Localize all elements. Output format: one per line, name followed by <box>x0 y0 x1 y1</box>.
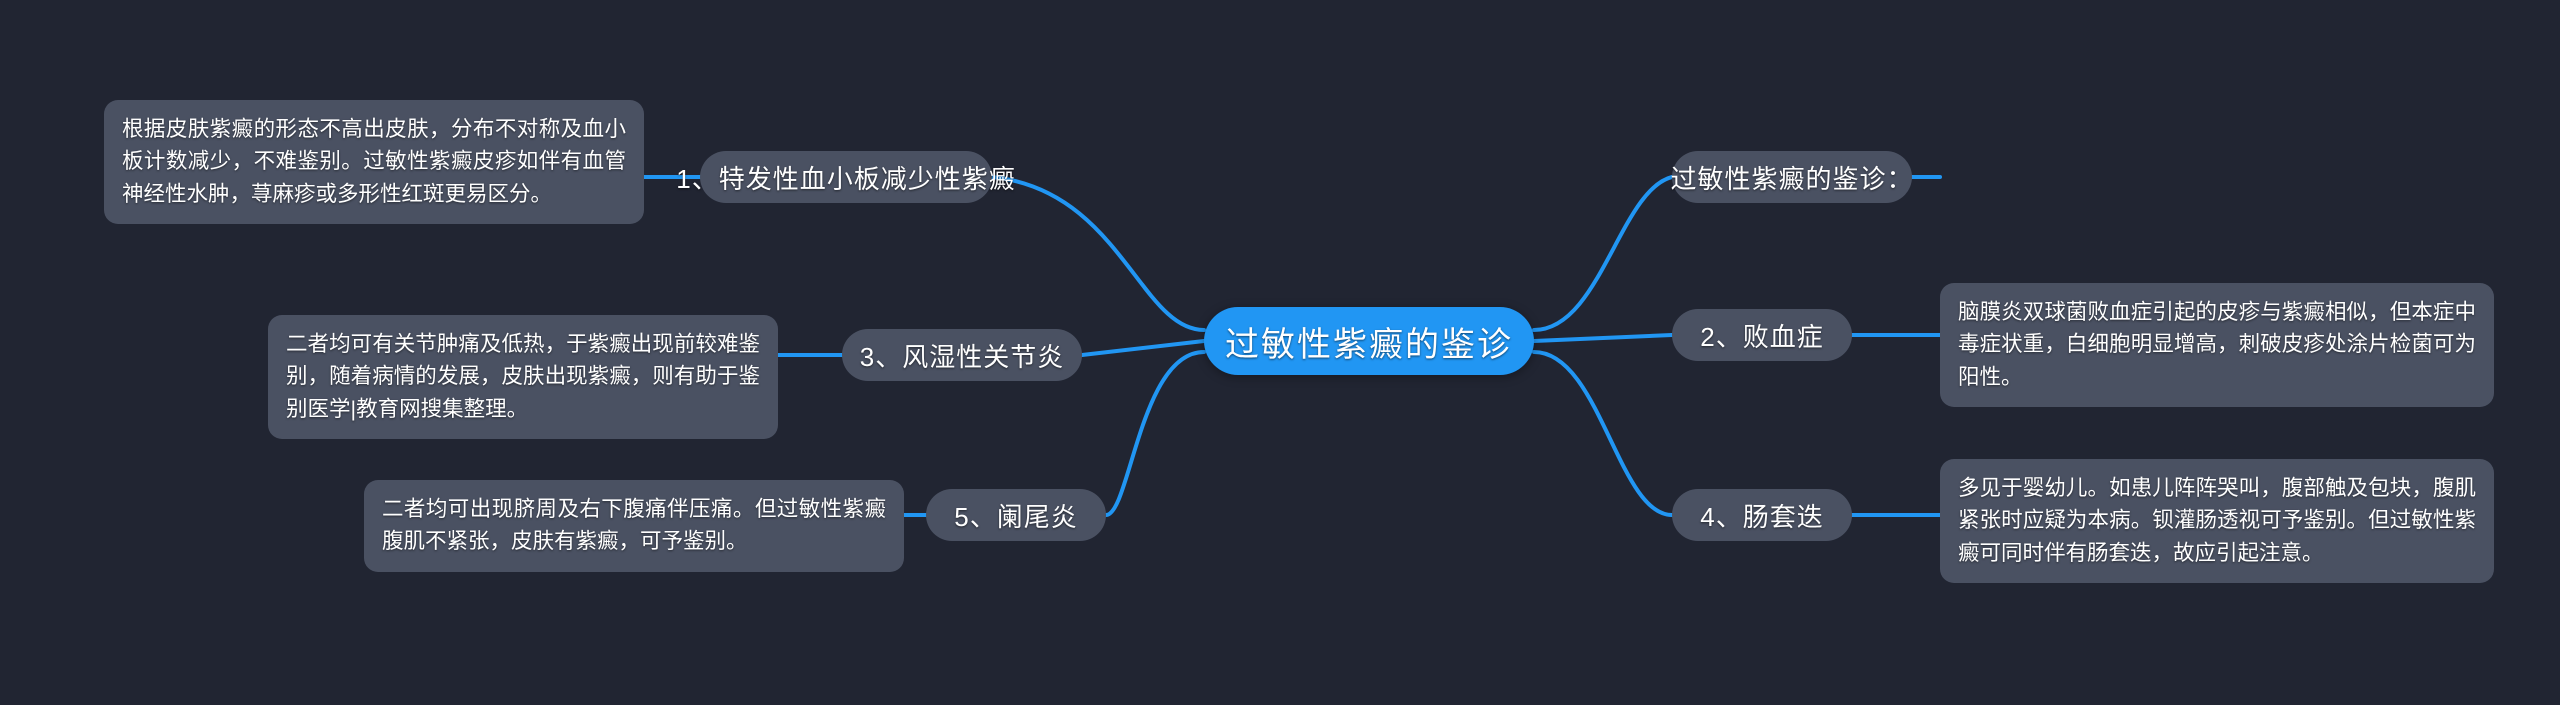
branch-node-septicemia[interactable]: 2、败血症 <box>1672 309 1852 361</box>
description-card-septicemia[interactable]: 脑膜炎双球菌败血症引起的皮疹与紫癜相似，但本症中毒症状重，白细胞明显增高，刺破皮… <box>1940 283 2494 407</box>
description-card-idiopathic-thrombocytopenic-purpura[interactable]: 根据皮肤紫癜的形态不高出皮肤，分布不对称及血小板计数减少，不难鉴别。过敏性紫癜皮… <box>104 100 644 224</box>
description-card-appendicitis[interactable]: 二者均可出现脐周及右下腹痛伴压痛。但过敏性紫癜腹肌不紧张，皮肤有紫癜，可予鉴别。 <box>364 480 904 572</box>
link-root-to-n1 <box>992 177 1204 330</box>
link-root-to-n3 <box>1082 341 1204 355</box>
branch-node-intussusception[interactable]: 4、肠套迭 <box>1672 489 1852 541</box>
root-node[interactable]: 过敏性紫癜的鉴诊 <box>1204 307 1534 375</box>
description-card-intussusception[interactable]: 多见于婴幼儿。如患儿阵阵哭叫，腹部触及包块，腹肌紧张时应疑为本病。钡灌肠透视可予… <box>1940 459 2494 583</box>
link-root-to-n2 <box>1534 335 1672 341</box>
branch-node-appendicitis[interactable]: 5、阑尾炎 <box>926 489 1106 541</box>
branch-node-rheumatic-arthritis[interactable]: 3、风湿性关节炎 <box>842 329 1082 381</box>
branch-node-diagnosis-title[interactable]: 过敏性紫癜的鉴诊： <box>1672 151 1912 203</box>
branch-node-idiopathic-thrombocytopenic-purpura[interactable]: 1、特发性血小板减少性紫癜 <box>700 151 992 203</box>
link-root-to-n4 <box>1534 352 1672 515</box>
link-root-to-n5 <box>1106 352 1204 515</box>
mindmap-canvas: 过敏性紫癜的鉴诊 1、特发性血小板减少性紫癜 3、风湿性关节炎 5、阑尾炎 过敏… <box>0 0 2560 705</box>
link-root-to-title <box>1534 177 1672 330</box>
description-card-rheumatic-arthritis[interactable]: 二者均可有关节肿痛及低热，于紫癜出现前较难鉴别，随着病情的发展，皮肤出现紫癜，则… <box>268 315 778 439</box>
